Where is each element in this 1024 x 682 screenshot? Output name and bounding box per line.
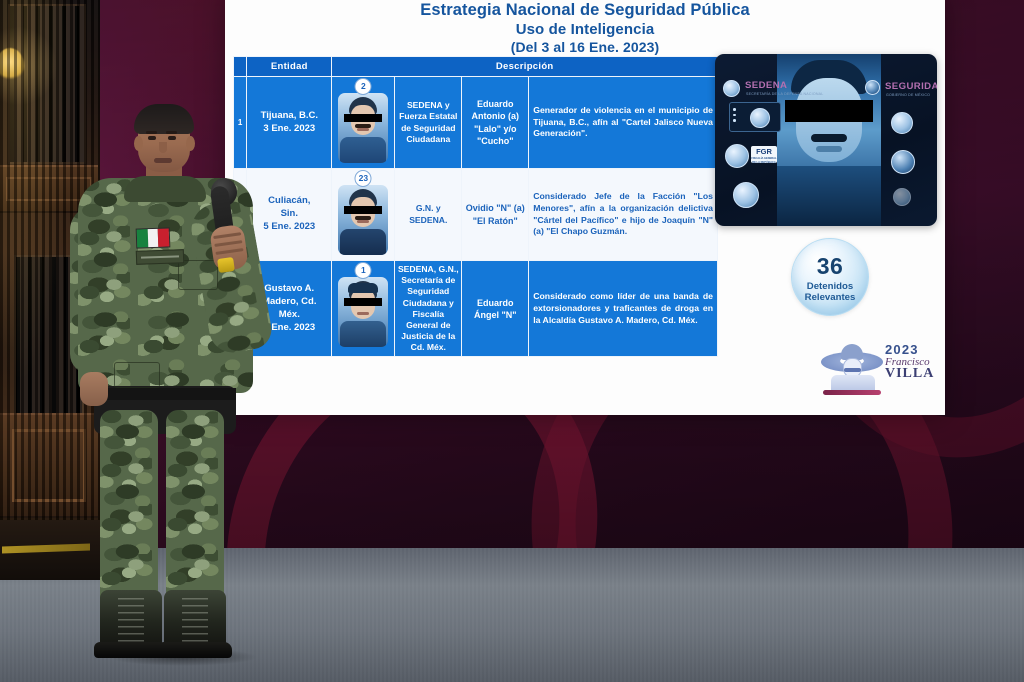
row-dependencia: SEDENA y Fuerza Estatal de Seguridad Ciu… (395, 77, 462, 169)
row-nombre: Eduardo Ángel "N" (462, 261, 529, 357)
seguridad-label: SEGURIDAD (885, 81, 937, 92)
presenter-eye (148, 136, 156, 140)
table-row: 2 Culiacán, Sin. 5 Ene. 2023 23 G.N. y S… (234, 169, 718, 261)
photo-count-badge: 23 (355, 170, 372, 187)
fgr-sublabel: FISCALÍA GENERAL DE LA REPÚBLICA (751, 157, 777, 165)
row-photo-cell: 1 (332, 261, 395, 357)
row-descripcion: Considerado como líder de una banda de e… (529, 261, 718, 357)
badge-line2: Relevantes (792, 292, 868, 303)
fgr-logo: FGR FISCALÍA GENERAL DE LA REPÚBLICA (751, 146, 777, 163)
row-nombre: Ovidio "N" (a) "El Ratón" (462, 169, 529, 261)
villa-portrait-icon (821, 338, 883, 394)
presentation-slide: Estrategia Nacional de Seguridad Pública… (225, 0, 945, 415)
agency-seal-icon (733, 182, 759, 208)
row-nombre: Eduardo Antonio (a) "Lalo" y/o "Cucho" (462, 77, 529, 169)
table-row: 1 Tijuana, B.C. 3 Ene. 2023 2 SEDENA y F… (234, 77, 718, 169)
presenter-nose (159, 142, 167, 153)
presenter-belt (94, 388, 236, 400)
uniform-pocket (178, 260, 218, 290)
row-photo-cell: 2 (332, 77, 395, 169)
presenter-eyebrow (166, 131, 177, 134)
sedena-seal-icon (723, 80, 740, 97)
agency-seal-icon (893, 188, 911, 206)
detainee-photo-icon (338, 277, 388, 347)
row-dependencia: SEDENA, G.N., Secretaría de Seguridad Ci… (395, 261, 462, 357)
status-badge-detenidos: 36 Detenidos Relevantes (791, 238, 869, 316)
badge-number: 36 (792, 239, 868, 278)
uniform-name-tape (136, 249, 184, 265)
row-descripcion: Generador de violencia en el municipio d… (529, 77, 718, 169)
sedena-label: SEDENA (745, 80, 787, 91)
presenter-boot-left (100, 590, 162, 658)
row-dependencia: G.N. y SEDENA. (395, 169, 462, 261)
sedena-sublabel: SECRETARÍA DE LA DEFENSA NACIONAL (746, 92, 823, 96)
panel-seal-icon (750, 108, 770, 128)
header-entidad: Entidad (247, 57, 332, 77)
table-row: 3 Gustavo A. Madero, Cd. Méx. 5 Ene. 202… (234, 261, 718, 357)
seguridad-seal-icon (865, 80, 880, 95)
detainee-photo-icon (338, 93, 388, 163)
conference-scene: Estrategia Nacional de Seguridad Pública… (0, 0, 1024, 682)
lamp-glow (0, 24, 58, 108)
row-photo-cell: 23 (332, 169, 395, 261)
villa-last-name: VILLA (885, 366, 934, 382)
slide-title-line1: Estrategia Nacional de Seguridad Pública (225, 0, 945, 21)
slide-title: Estrategia Nacional de Seguridad Pública… (225, 0, 945, 57)
presenter-legs (100, 410, 232, 606)
featured-detainee-photo: SEDENA SECRETARÍA DE LA DEFENSA NACIONAL… (715, 54, 937, 226)
header-descripcion: Descripción (332, 57, 718, 77)
agency-seal-icon (891, 150, 915, 174)
mexican-flag-patch-icon (136, 227, 171, 248)
uniform-pocket (114, 362, 160, 388)
slide-title-line2: Uso de Inteligencia (225, 21, 945, 40)
lamp-icon (0, 48, 24, 82)
presenter-hair (134, 104, 194, 134)
presenter-eyebrow (146, 131, 157, 134)
featured-face (777, 54, 881, 226)
censor-bar (785, 100, 873, 122)
detainees-table: Entidad Descripción 1 Tijuana, B.C. 3 En… (233, 56, 718, 357)
row-descripcion: Considerado Jefe de la Facción "Los Meno… (529, 169, 718, 261)
agency-seal-icon (725, 144, 749, 168)
photo-count-badge: 2 (355, 78, 372, 95)
screen-panel-icon (729, 102, 781, 132)
badge-line1: Detenidos (792, 281, 868, 292)
presenter-ear (134, 136, 143, 151)
francisco-villa-logo: 2023 Francisco VILLA (817, 334, 937, 396)
seguridad-sublabel: GOBIERNO DE MÉXICO (886, 93, 930, 97)
presenter-ear (186, 136, 195, 151)
header-num (234, 57, 247, 77)
screen-dots-icon (733, 108, 736, 125)
presenter-figure (60, 110, 275, 670)
photo-count-badge: 1 (355, 262, 372, 279)
table-header-row: Entidad Descripción (234, 57, 718, 77)
villa-year: 2023 (885, 342, 934, 357)
microphone-band (217, 257, 235, 273)
fgr-label: FGR (756, 147, 772, 156)
presenter-hand-lower (80, 372, 108, 406)
presenter-collar (124, 176, 206, 202)
presenter-boot-right (164, 590, 226, 658)
villa-text: 2023 Francisco VILLA (885, 342, 934, 382)
detainee-photo-icon (338, 185, 388, 255)
presenter-mouth (154, 158, 172, 163)
presenter-eye (168, 136, 176, 140)
agency-seal-icon (891, 112, 913, 134)
